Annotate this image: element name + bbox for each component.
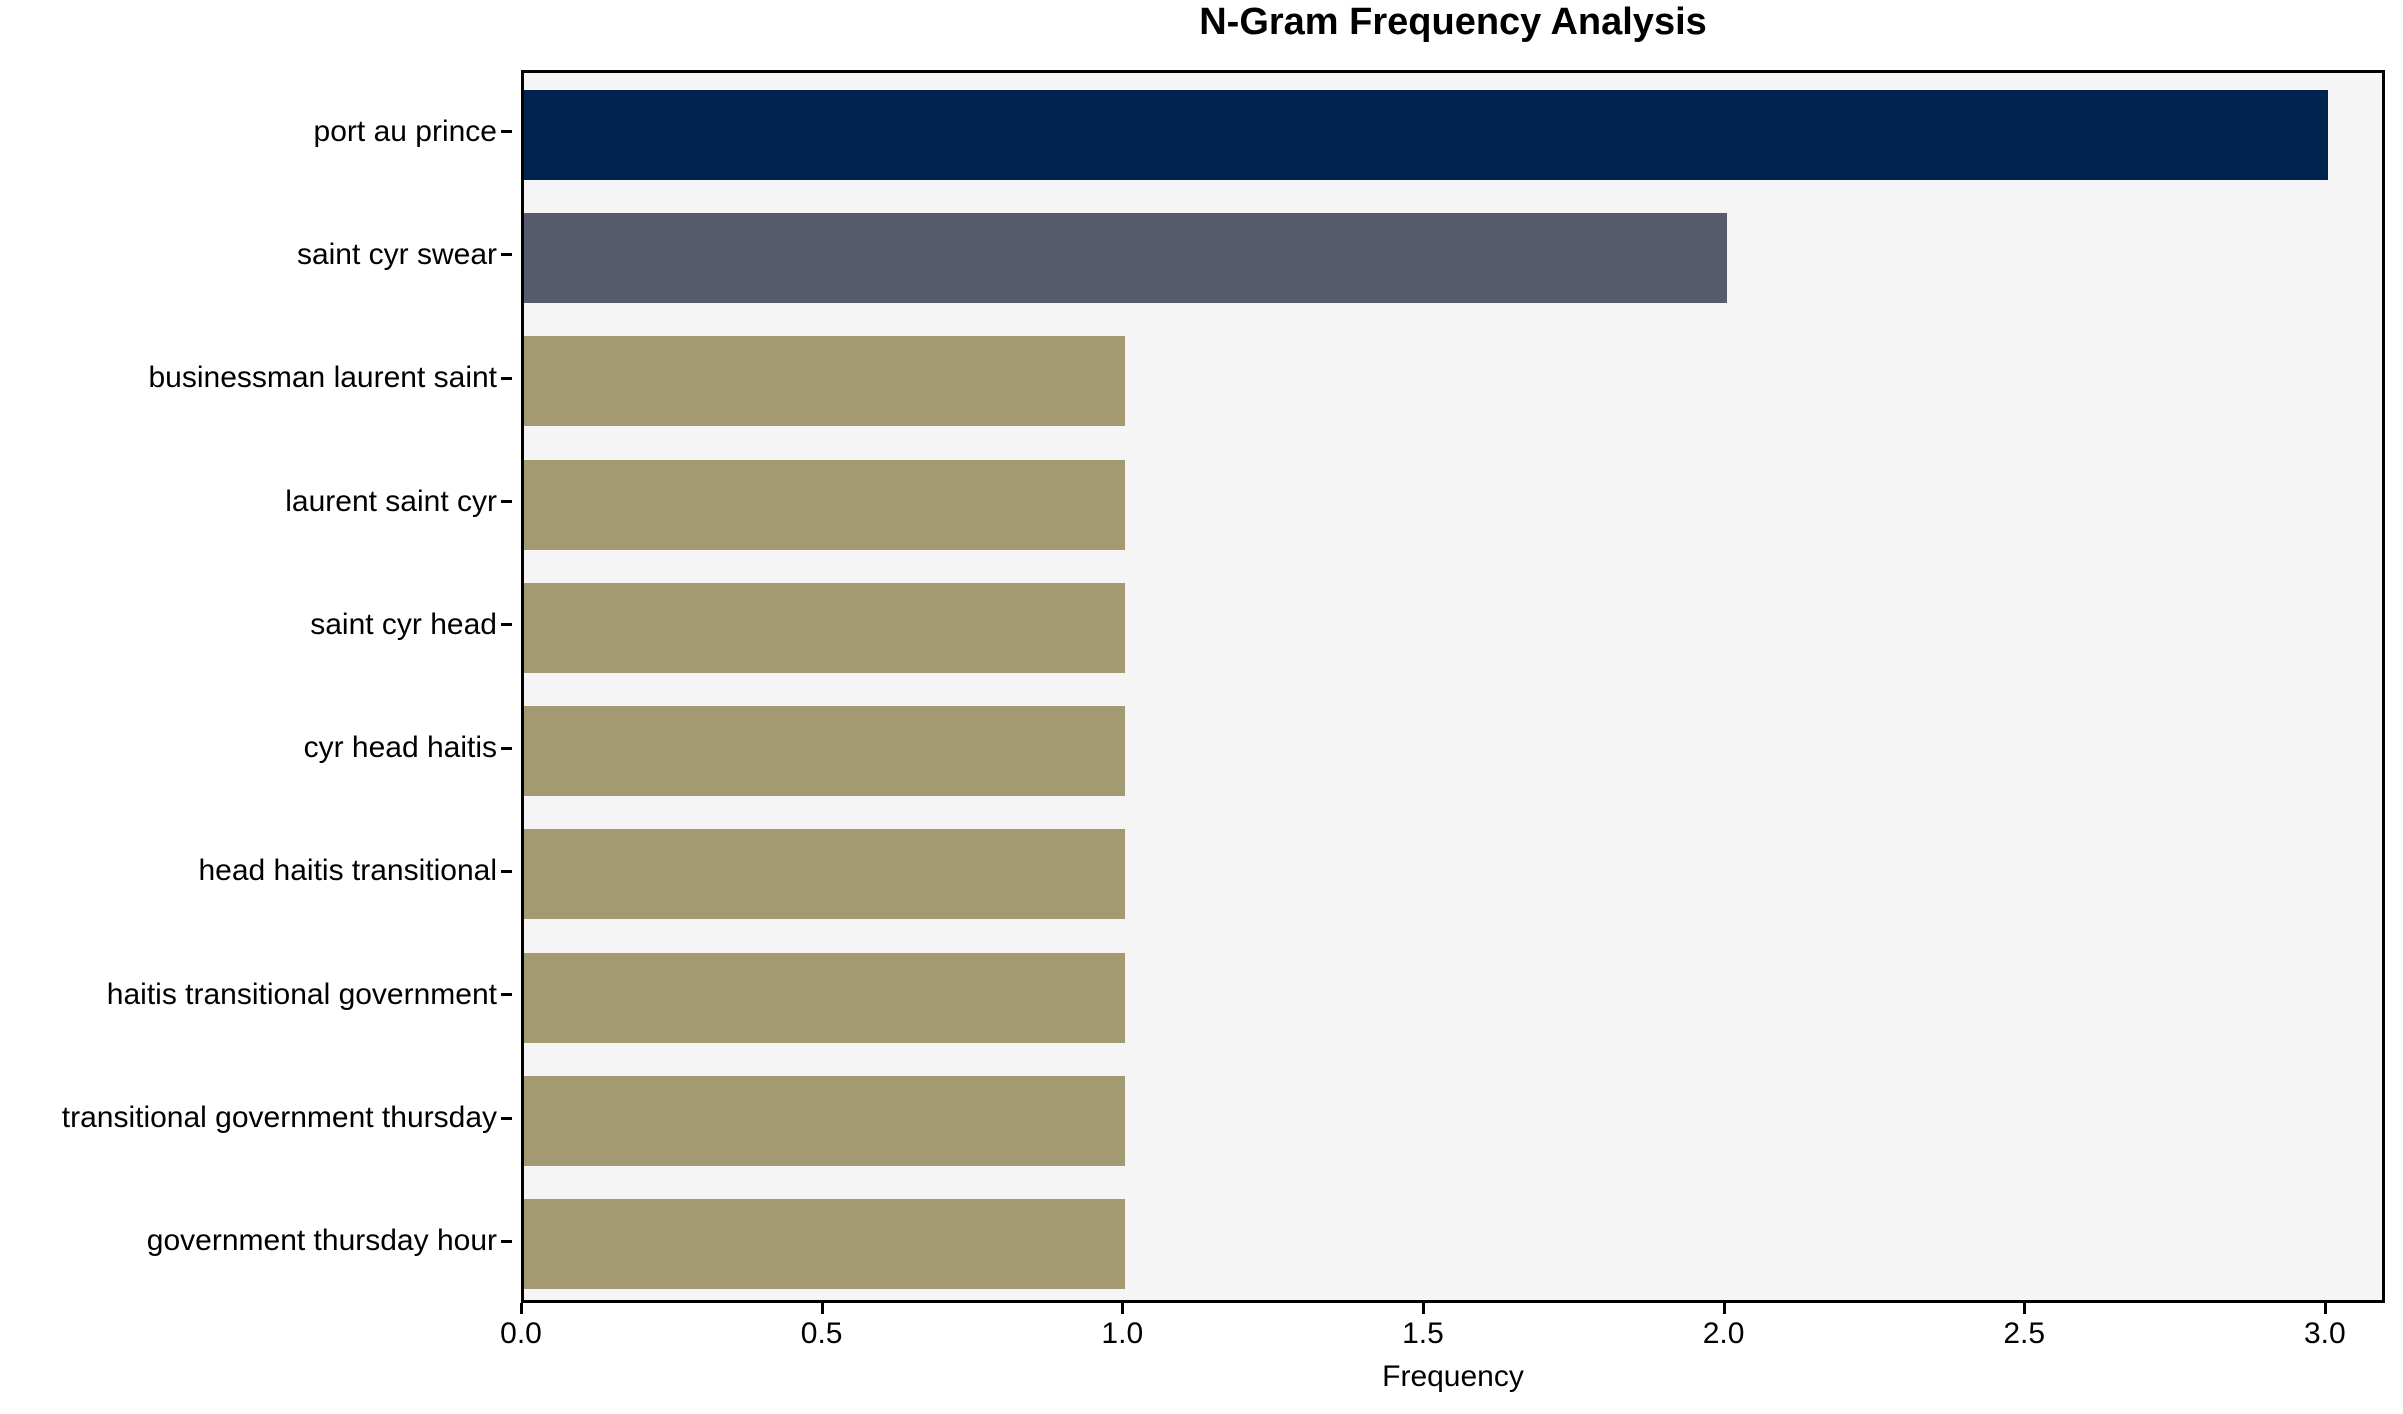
bar [524, 460, 1125, 550]
chart-figure: N-Gram Frequency Analysis port au prince… [0, 0, 2403, 1414]
bar [524, 1076, 1125, 1166]
y-axis-tick-label: government thursday hour [147, 1220, 501, 1262]
x-axis-tick-label: 1.0 [1062, 1317, 1182, 1351]
x-axis-tick-mark [520, 1303, 523, 1314]
y-axis-tick: saint cyr head [0, 604, 512, 646]
bar [524, 829, 1125, 919]
y-axis-tick: port au prince [0, 111, 512, 153]
x-axis: 0.00.51.01.52.02.53.0 [521, 1303, 2385, 1363]
y-axis-tick-label: port au prince [314, 111, 501, 153]
x-axis-tick-label: 3.0 [2265, 1317, 2385, 1351]
x-axis-tick-label: 0.5 [762, 1317, 882, 1351]
y-axis-tick: saint cyr swear [0, 234, 512, 276]
y-axis-tick-mark [501, 1240, 512, 1243]
y-axis-tick-mark [501, 870, 512, 873]
y-axis-tick: head haitis transitional [0, 850, 512, 892]
x-axis-tick-label: 1.5 [1363, 1317, 1483, 1351]
y-axis-tick-mark [501, 130, 512, 133]
x-axis-tick-label: 2.5 [1964, 1317, 2084, 1351]
y-axis-tick-label: businessman laurent saint [148, 357, 501, 399]
x-axis-title: Frequency [521, 1360, 2385, 1394]
bar [524, 90, 2328, 180]
y-axis-tick: government thursday hour [0, 1220, 512, 1262]
bar [524, 336, 1125, 426]
y-axis-tick-label: head haitis transitional [198, 850, 501, 892]
y-axis-tick-label: laurent saint cyr [285, 481, 501, 523]
y-axis-tick-mark [501, 993, 512, 996]
x-axis-tick-mark [821, 1303, 824, 1314]
bar [524, 953, 1125, 1043]
bar [524, 1199, 1125, 1289]
y-axis-tick-label: haitis transitional government [107, 974, 501, 1016]
y-axis: port au princesaint cyr swearbusinessman… [0, 70, 512, 1303]
x-axis-tick-mark [1422, 1303, 1425, 1314]
y-axis-tick-mark [501, 377, 512, 380]
y-axis-tick: transitional government thursday [0, 1097, 512, 1139]
y-axis-tick-label: cyr head haitis [304, 727, 501, 769]
plot-area [521, 70, 2385, 1303]
x-axis-tick-mark [1723, 1303, 1726, 1314]
y-axis-tick-label: saint cyr swear [297, 234, 501, 276]
y-axis-tick-mark [501, 747, 512, 750]
y-axis-tick-mark [501, 1117, 512, 1120]
chart-title: N-Gram Frequency Analysis [521, 0, 2385, 44]
x-axis-tick-mark [2023, 1303, 2026, 1314]
x-axis-tick-mark [2324, 1303, 2327, 1314]
y-axis-tick-mark [501, 253, 512, 256]
y-axis-tick-label: transitional government thursday [62, 1097, 501, 1139]
x-axis-tick-label: 2.0 [1664, 1317, 1784, 1351]
y-axis-tick-mark [501, 500, 512, 503]
y-axis-tick: haitis transitional government [0, 974, 512, 1016]
bars-layer [524, 73, 2382, 1300]
y-axis-tick-label: saint cyr head [310, 604, 501, 646]
y-axis-tick-mark [501, 623, 512, 626]
x-axis-tick-label: 0.0 [461, 1317, 581, 1351]
bar [524, 583, 1125, 673]
x-axis-tick-mark [1121, 1303, 1124, 1314]
y-axis-tick: cyr head haitis [0, 727, 512, 769]
y-axis-tick: laurent saint cyr [0, 481, 512, 523]
y-axis-tick: businessman laurent saint [0, 357, 512, 399]
bar [524, 213, 1727, 303]
bar [524, 706, 1125, 796]
